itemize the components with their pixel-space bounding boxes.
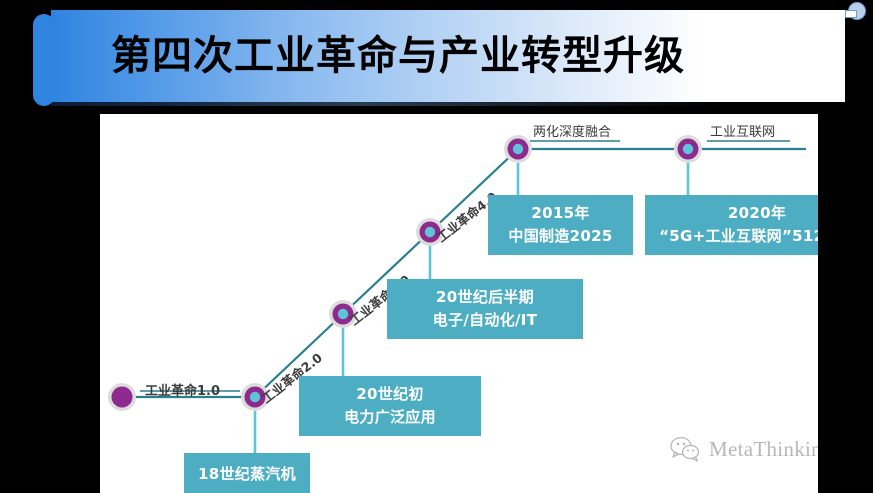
title-banner-shadow — [51, 102, 845, 106]
corner-notch-shape — [845, 10, 857, 18]
title-banner-left-bar — [33, 14, 55, 106]
info-box-2015-line-1: 2015年 — [498, 202, 623, 225]
node-center-4 — [513, 144, 523, 154]
wechat-icon — [670, 436, 700, 462]
page-title: 第四次工业革命与产业转型升级 — [111, 30, 811, 82]
slide-title-banner: 第四次工业革命与产业转型升级 — [33, 10, 845, 106]
segment-label-integration: 两化深度融合 — [533, 121, 611, 140]
corner-decoration-icon — [845, 2, 867, 24]
timeline-panel: 工业革命1.0 两化深度融合 工业互联网 工业革命2.0 工业革命3.0 工业革… — [100, 114, 818, 493]
info-box-2020-line-1: 2020年 — [655, 202, 818, 225]
presentation-slide: 第四次工业革命与产业转型升级 — [0, 0, 873, 493]
info-box-steam-line-1: 18世纪蒸汽机 — [194, 463, 300, 486]
info-box-2020-line-2: “5G+工业互联网”512工程 — [655, 225, 818, 248]
info-box-power: 20世纪初 电力广泛应用 — [299, 376, 481, 436]
node-center-5 — [683, 144, 693, 154]
info-box-2015: 2015年 中国制造2025 — [488, 195, 633, 255]
watermark-label: MetaThinking — [709, 437, 818, 462]
info-box-steam: 18世纪蒸汽机 — [184, 453, 310, 493]
segment-label-industrial-internet: 工业互联网 — [710, 121, 775, 140]
info-box-power-line-2: 电力广泛应用 — [309, 406, 471, 429]
info-box-electronics: 20世纪后半期 电子/自动化/IT — [387, 279, 583, 339]
segment-label-ir10: 工业革命1.0 — [145, 380, 220, 399]
info-box-2015-line-2: 中国制造2025 — [498, 225, 623, 248]
info-box-electronics-line-2: 电子/自动化/IT — [397, 309, 573, 332]
info-box-electronics-line-1: 20世纪后半期 — [397, 286, 573, 309]
info-box-power-line-1: 20世纪初 — [309, 383, 471, 406]
watermark: MetaThinking — [670, 436, 818, 462]
info-box-2020: 2020年 “5G+工业互联网”512工程 — [645, 195, 818, 255]
node-dot-0 — [112, 387, 133, 408]
